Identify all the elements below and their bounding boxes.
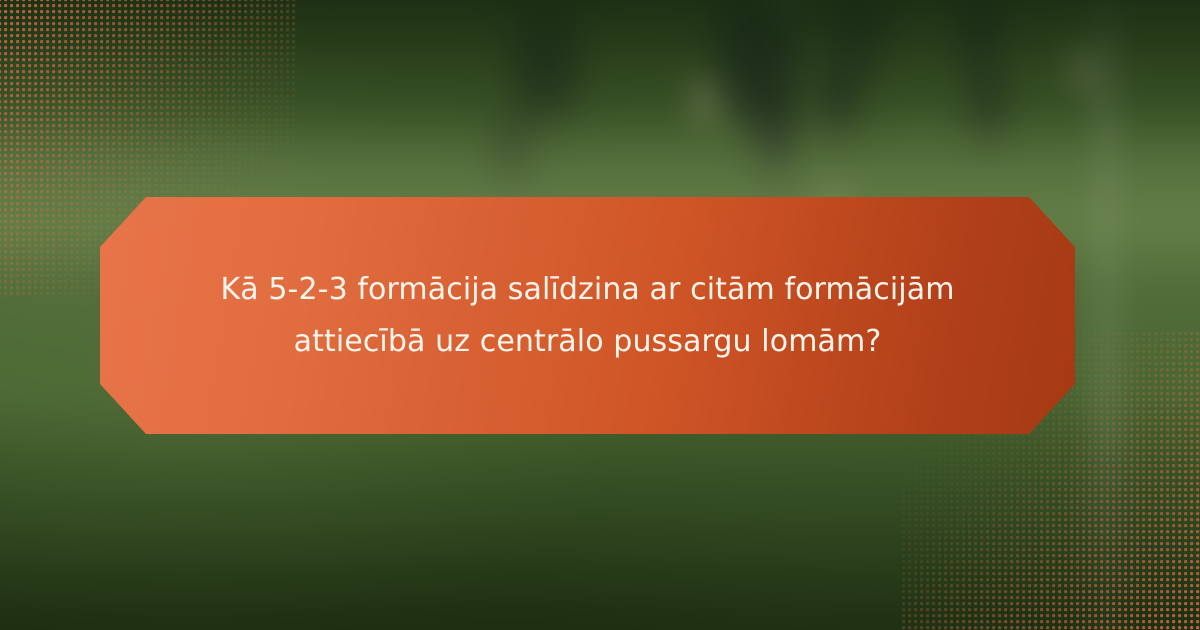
- question-text: Kā 5-2-3 formācija salīdzina ar citām fo…: [208, 264, 968, 368]
- share-card: Kā 5-2-3 formācija salīdzina ar citām fo…: [0, 0, 1200, 630]
- question-banner: Kā 5-2-3 formācija salīdzina ar citām fo…: [100, 197, 1075, 434]
